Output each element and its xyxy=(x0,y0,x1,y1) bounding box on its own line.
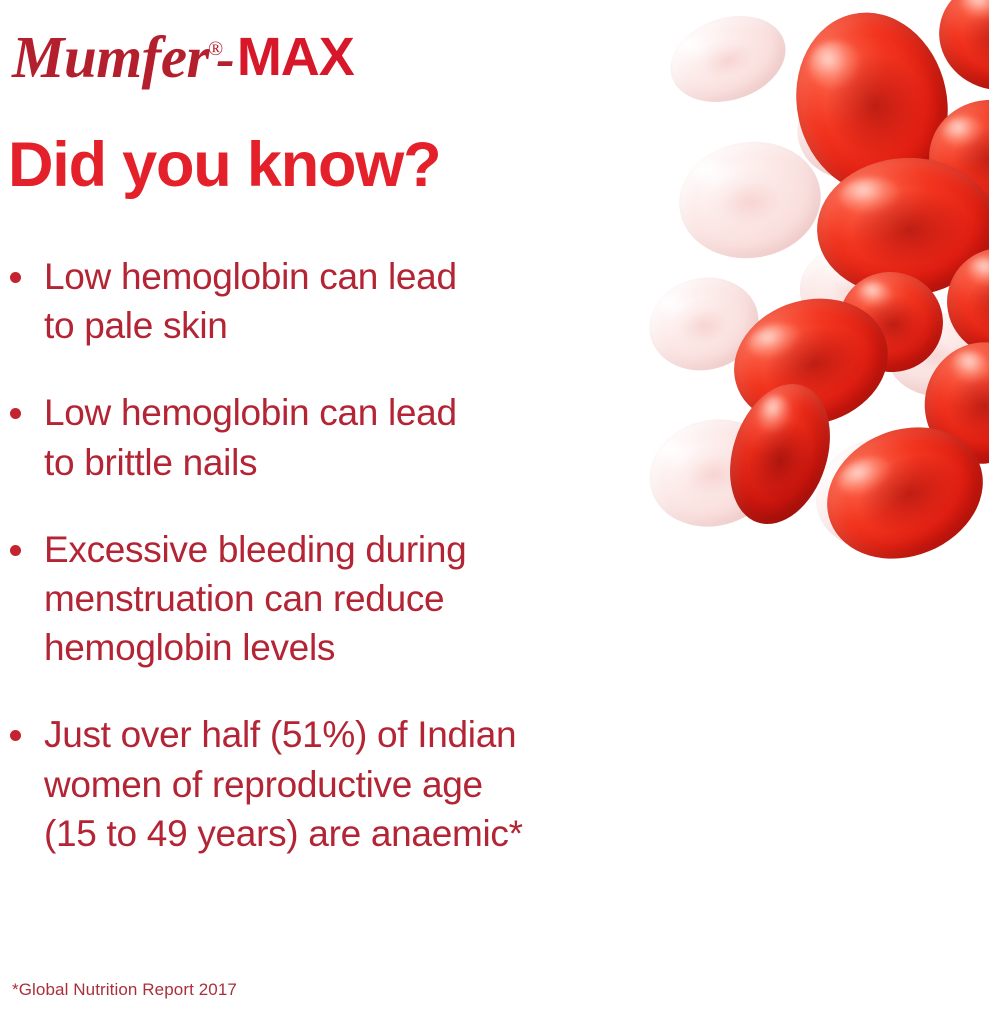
list-item-label: Low hemoglobin can lead to brittle nails xyxy=(44,388,640,486)
list-item-label: Excessive bleeding during menstruation c… xyxy=(44,525,640,673)
poster-canvas: Mumfer®-MAX Did you know? Low hemoglobin… xyxy=(0,0,989,1024)
list-item: Low hemoglobin can lead to pale skin xyxy=(0,252,640,350)
text-content-column: Mumfer®-MAX Did you know? Low hemoglobin… xyxy=(0,0,660,1024)
list-item-label: Just over half (51%) of Indian women of … xyxy=(44,710,640,858)
bullet-dot-icon xyxy=(10,272,21,283)
list-item: Excessive bleeding during menstruation c… xyxy=(0,525,640,673)
bullet-dot-icon xyxy=(10,408,21,419)
bullet-dot-icon xyxy=(10,545,21,556)
red-blood-cells-illustration xyxy=(629,0,989,1024)
bullet-dot-icon xyxy=(10,730,21,741)
list-item-label: Low hemoglobin can lead to pale skin xyxy=(44,252,640,350)
fact-list: Low hemoglobin can lead to pale skinLow … xyxy=(0,252,640,896)
logo-brand-name: Mumfer xyxy=(12,24,209,90)
logo-max-word: MAX xyxy=(237,27,354,87)
brand-logo: Mumfer®-MAX xyxy=(12,28,360,87)
source-footnote: *Global Nutrition Report 2017 xyxy=(12,980,237,1000)
logo-dash: - xyxy=(216,28,235,90)
list-item: Low hemoglobin can lead to brittle nails xyxy=(0,388,640,486)
pale-blood-cell-icon xyxy=(659,2,797,116)
page-title: Did you know? xyxy=(8,133,440,197)
list-item: Just over half (51%) of Indian women of … xyxy=(0,710,640,858)
